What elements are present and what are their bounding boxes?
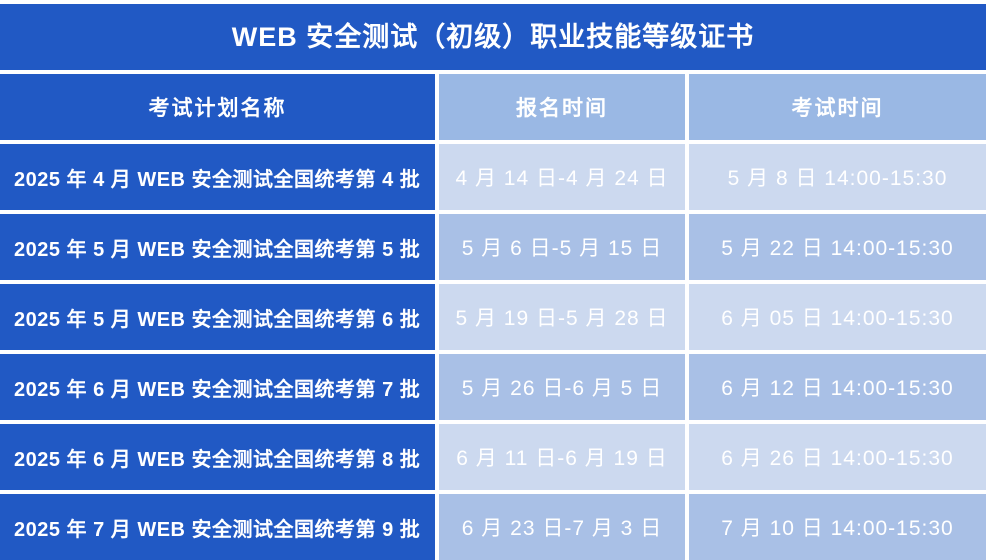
certificate-exam-schedule-table: WEB 安全测试（初级）职业技能等级证书 考试计划名称 报名时间 考试时间 20…	[0, 0, 986, 560]
cell-plan-name: 2025 年 7 月 WEB 安全测试全国统考第 9 批	[0, 494, 439, 560]
cell-exam-time: 7 月 10 日 14:00-15:30	[689, 494, 986, 560]
cell-exam-time: 6 月 26 日 14:00-15:30	[689, 424, 986, 490]
column-header-plan-name: 考试计划名称	[0, 74, 439, 140]
table-row: 2025 年 5 月 WEB 安全测试全国统考第 6 批5 月 19 日-5 月…	[0, 280, 986, 350]
cell-plan-name: 2025 年 6 月 WEB 安全测试全国统考第 8 批	[0, 424, 439, 490]
cell-exam-time: 5 月 22 日 14:00-15:30	[689, 214, 986, 280]
cell-signup-time: 4 月 14 日-4 月 24 日	[439, 144, 689, 210]
table-row: 2025 年 6 月 WEB 安全测试全国统考第 7 批5 月 26 日-6 月…	[0, 350, 986, 420]
cell-signup-time: 6 月 23 日-7 月 3 日	[439, 494, 689, 560]
table-title-bar: WEB 安全测试（初级）职业技能等级证书	[0, 0, 986, 70]
table-row: 2025 年 5 月 WEB 安全测试全国统考第 5 批5 月 6 日-5 月 …	[0, 210, 986, 280]
column-header-signup-time: 报名时间	[439, 74, 689, 140]
table-header-row: 考试计划名称 报名时间 考试时间	[0, 70, 986, 140]
table-row: 2025 年 6 月 WEB 安全测试全国统考第 8 批6 月 11 日-6 月…	[0, 420, 986, 490]
cell-exam-time: 5 月 8 日 14:00-15:30	[689, 144, 986, 210]
cell-plan-name: 2025 年 5 月 WEB 安全测试全国统考第 6 批	[0, 284, 439, 350]
cell-signup-time: 5 月 19 日-5 月 28 日	[439, 284, 689, 350]
cell-plan-name: 2025 年 5 月 WEB 安全测试全国统考第 5 批	[0, 214, 439, 280]
page-title: WEB 安全测试（初级）职业技能等级证书	[232, 24, 755, 51]
cell-plan-name: 2025 年 4 月 WEB 安全测试全国统考第 4 批	[0, 144, 439, 210]
cell-signup-time: 5 月 26 日-6 月 5 日	[439, 354, 689, 420]
cell-plan-name: 2025 年 6 月 WEB 安全测试全国统考第 7 批	[0, 354, 439, 420]
table-row: 2025 年 7 月 WEB 安全测试全国统考第 9 批6 月 23 日-7 月…	[0, 490, 986, 560]
column-header-exam-time: 考试时间	[689, 74, 986, 140]
table-body: 2025 年 4 月 WEB 安全测试全国统考第 4 批4 月 14 日-4 月…	[0, 140, 986, 560]
cell-signup-time: 6 月 11 日-6 月 19 日	[439, 424, 689, 490]
cell-exam-time: 6 月 12 日 14:00-15:30	[689, 354, 986, 420]
cell-signup-time: 5 月 6 日-5 月 15 日	[439, 214, 689, 280]
table-row: 2025 年 4 月 WEB 安全测试全国统考第 4 批4 月 14 日-4 月…	[0, 140, 986, 210]
cell-exam-time: 6 月 05 日 14:00-15:30	[689, 284, 986, 350]
